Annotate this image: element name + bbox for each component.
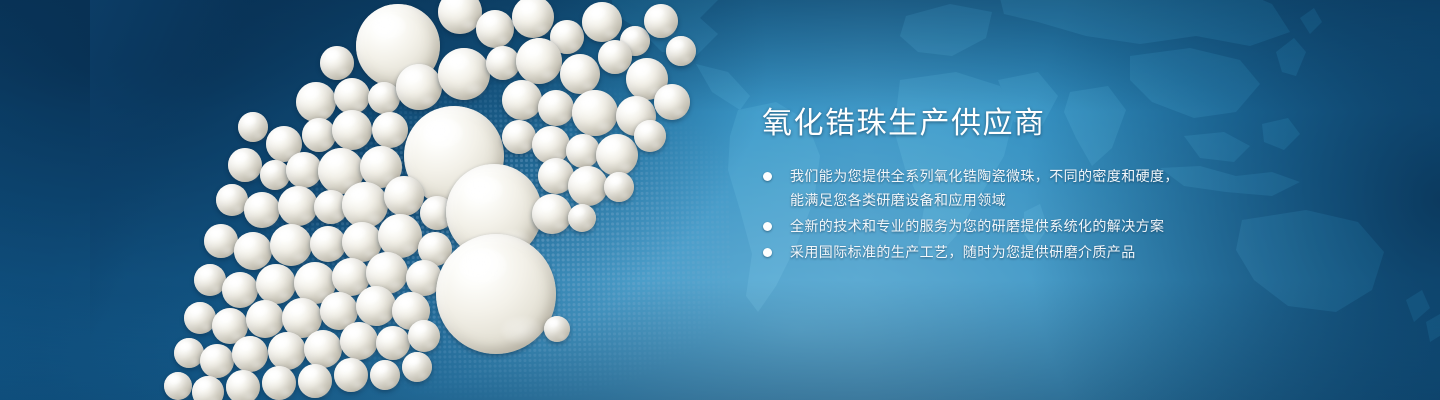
list-item: 采用国际标准的生产工艺，随时为您提供研磨介质产品 bbox=[762, 240, 1232, 264]
bullet-dot-icon bbox=[763, 222, 772, 231]
bullet-text-line2: 能满足您各类研磨设备和应用领域 bbox=[790, 188, 1232, 212]
bullet-text-line1: 采用国际标准的生产工艺，随时为您提供研磨介质产品 bbox=[790, 244, 1136, 260]
list-item: 全新的技术和专业的服务为您的研磨提供系统化的解决方案 bbox=[762, 214, 1232, 238]
hero-banner: 氧化锆珠生产供应商 我们能为您提供全系列氧化锆陶瓷微珠，不同的密度和硬度， 能满… bbox=[0, 0, 1440, 400]
bullet-text-line1: 全新的技术和专业的服务为您的研磨提供系统化的解决方案 bbox=[790, 218, 1164, 234]
banner-copy-block: 氧化锆珠生产供应商 我们能为您提供全系列氧化锆陶瓷微珠，不同的密度和硬度， 能满… bbox=[762, 104, 1232, 266]
page-title: 氧化锆珠生产供应商 bbox=[762, 104, 1232, 144]
feature-bullet-list: 我们能为您提供全系列氧化锆陶瓷微珠，不同的密度和硬度， 能满足您各类研磨设备和应… bbox=[762, 164, 1232, 264]
bullet-text-line1: 我们能为您提供全系列氧化锆陶瓷微珠，不同的密度和硬度， bbox=[790, 168, 1179, 184]
list-item: 我们能为您提供全系列氧化锆陶瓷微珠，不同的密度和硬度， 能满足您各类研磨设备和应… bbox=[762, 164, 1232, 212]
bullet-dot-icon bbox=[763, 248, 772, 257]
bullet-dot-icon bbox=[763, 172, 772, 181]
